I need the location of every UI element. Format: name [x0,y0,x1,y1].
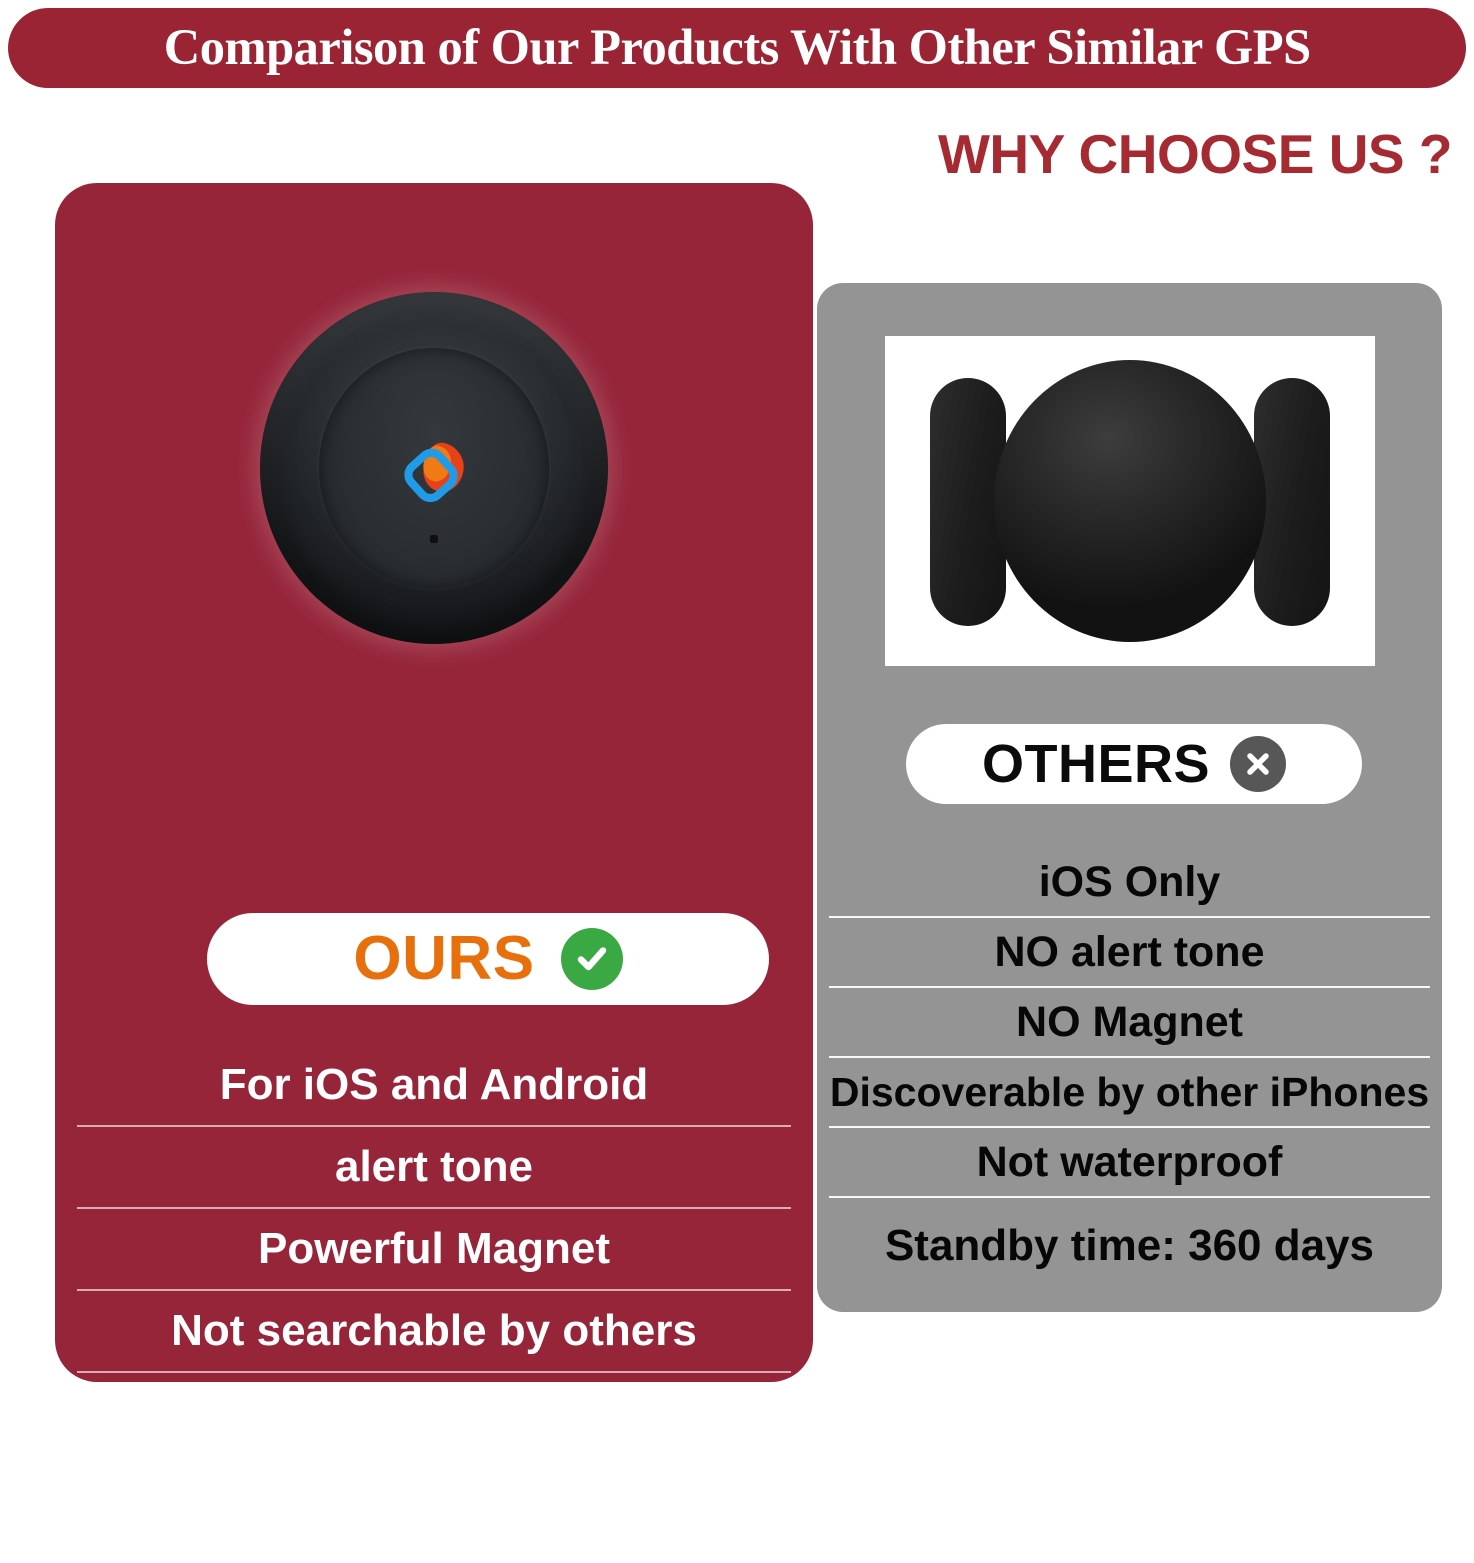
ours-device-image [55,268,813,668]
brand-logo-icon [397,431,471,505]
list-item: NO Magnet [829,988,1430,1058]
ours-label-text: OURS [353,928,534,990]
others-card: OTHERS iOS Only NO alert tone NO Magnet … [817,283,1442,1312]
check-circle-icon [561,928,623,990]
list-item: Standby time: 720 days [77,1455,791,1563]
others-tracker-disc [994,360,1266,642]
ours-card: OURS For iOS and Android alert tone Powe… [55,183,813,1382]
list-item: Not waterproof [829,1128,1430,1198]
list-item: NO alert tone [829,918,1430,988]
others-device-image [885,336,1375,666]
list-item: Not searchable by others [77,1291,791,1373]
list-item: For iOS and Android [77,1045,791,1127]
ours-feature-list: For iOS and Android alert tone Powerful … [77,1045,791,1563]
why-choose-us-heading: WHY CHOOSE US ? [938,124,1452,185]
list-item: Powerful Magnet [77,1209,791,1291]
list-item: Standby time: 360 days [829,1198,1430,1294]
others-label-text: OTHERS [982,737,1210,791]
ours-label-pill: OURS [207,913,769,1005]
page-title: Comparison of Our Products With Other Si… [164,23,1311,74]
microphone-hole-icon [430,535,438,543]
others-feature-list: iOS Only NO alert tone NO Magnet Discove… [829,848,1430,1294]
others-label-pill: OTHERS [906,724,1362,804]
header-banner: Comparison of Our Products With Other Si… [8,8,1466,88]
list-item: alert tone [77,1127,791,1209]
others-tracker-body [930,356,1330,646]
list-item: iOS Only [829,848,1430,918]
list-item: Discoverable by other iPhones [829,1058,1430,1128]
list-item: Splash-proof [77,1373,791,1455]
ours-tracker-body [260,292,608,644]
cross-circle-icon [1230,736,1286,792]
